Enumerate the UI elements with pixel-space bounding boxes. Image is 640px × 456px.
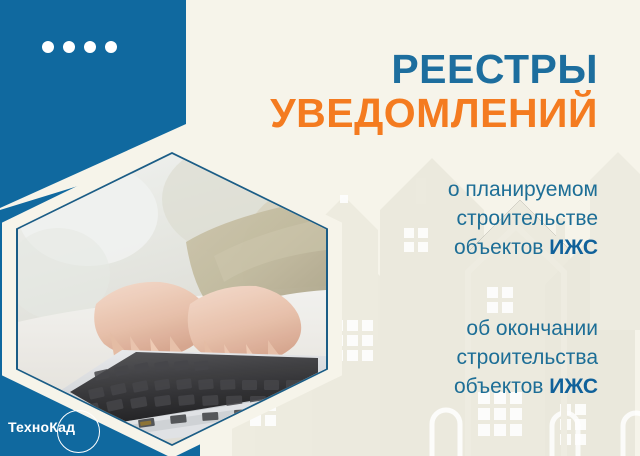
notice-line: объектов (454, 375, 549, 398)
hexagon-photo-frame (2, 140, 342, 456)
notice-line: о планируемом (448, 178, 598, 201)
page-title: РЕЕСТРЫ УВЕДОМЛЕНИЙ (178, 0, 598, 136)
decorative-dots (42, 41, 117, 53)
brand-logo-text: ТехноКад (6, 420, 75, 434)
notice-line: объектов (454, 236, 549, 259)
dot-icon (84, 41, 96, 53)
notice-emphasis: ИЖС (549, 236, 598, 259)
notice-line: об окончании (466, 317, 598, 340)
notice-line: строительства (457, 346, 598, 369)
title-line-1: РЕЕСТРЫ (178, 48, 598, 92)
title-line-2: УВЕДОМЛЕНИЙ (178, 92, 598, 136)
brand-logo: ТехноКад (6, 420, 75, 434)
notice-emphasis: ИЖС (549, 375, 598, 398)
poster-canvas: ТехноКад РЕЕСТРЫ УВЕДОМЛЕНИЙ о планируем… (0, 0, 640, 456)
dot-icon (63, 41, 75, 53)
dot-icon (42, 41, 54, 53)
notice-line: строительстве (457, 207, 598, 230)
dot-icon (105, 41, 117, 53)
